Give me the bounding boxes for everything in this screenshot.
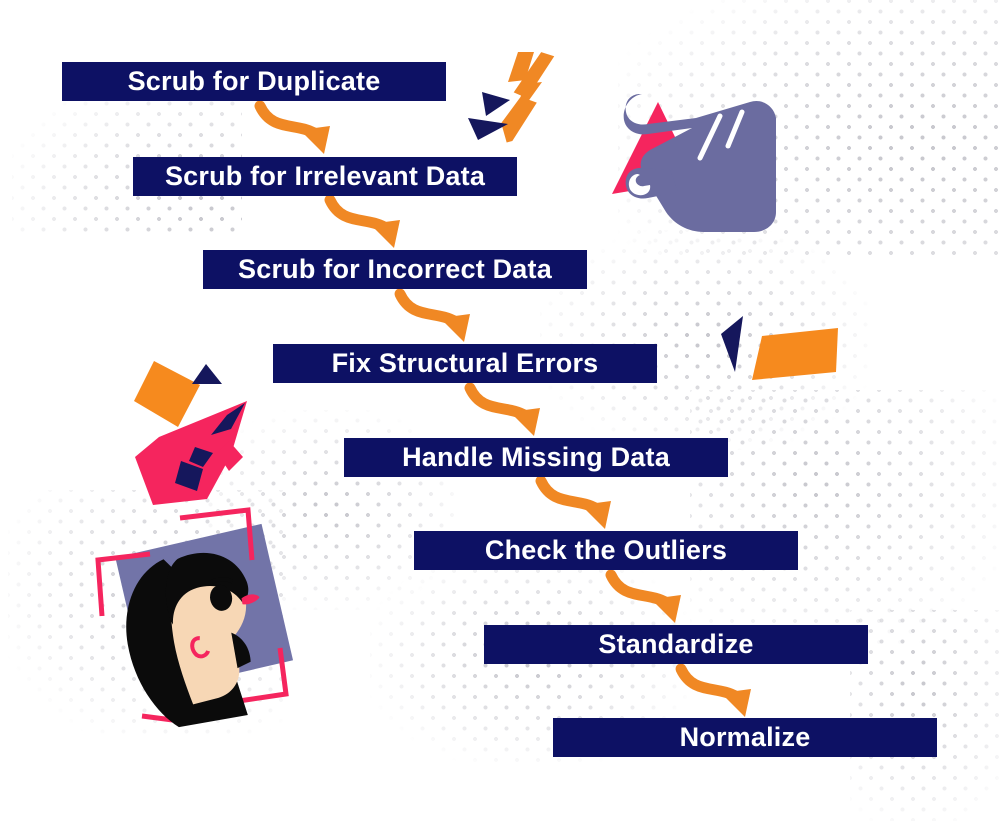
hand-shape [624, 94, 776, 232]
dot-field-center [540, 230, 870, 450]
thumb-notch [629, 174, 650, 195]
step-label-1: Scrub for Duplicate [128, 68, 381, 95]
arrow-irrelevant-to-incorrect [322, 192, 432, 254]
hand-holding-pen-illustration [600, 72, 820, 252]
step-box-fix-structural-errors[interactable]: Fix Structural Errors [273, 344, 657, 383]
arrow-structural-to-missing [462, 380, 572, 442]
dot-field-top-right [618, 0, 1000, 260]
face-shape [160, 550, 262, 705]
hand-outline-notch [629, 100, 650, 121]
step-box-handle-missing-data[interactable]: Handle Missing Data [344, 438, 728, 477]
step-box-scrub-for-incorrect-data[interactable]: Scrub for Incorrect Data [203, 250, 587, 289]
eye-shape [208, 583, 234, 612]
orange-lightning-shape [466, 36, 586, 156]
step-label-8: Normalize [680, 724, 811, 751]
finger-crease-2 [728, 112, 742, 146]
purple-backdrop-square [115, 524, 293, 694]
orange-parallelogram-shape [750, 318, 860, 398]
lips-shape [241, 593, 260, 605]
finger-crease-1 [700, 116, 720, 158]
arrow-duplicate-to-irrelevant [252, 98, 362, 160]
step-box-scrub-for-duplicate[interactable]: Scrub for Duplicate [62, 62, 446, 101]
navy-sliver-triangle [715, 310, 765, 390]
step-label-7: Standardize [598, 631, 753, 658]
pink-nib-shape [612, 102, 696, 194]
step-box-normalize[interactable]: Normalize [553, 718, 937, 757]
eyebrow-shape [208, 577, 232, 586]
dot-field-bottom-right [850, 610, 1000, 821]
ear-shape [191, 637, 209, 658]
thumb-shape [626, 168, 678, 199]
infographic-canvas: Scrub for Duplicate Scrub for Irrelevant… [0, 0, 1000, 821]
woman-profile-illustration [80, 498, 320, 728]
step-label-5: Handle Missing Data [402, 444, 670, 471]
step-label-3: Scrub for Incorrect Data [238, 256, 552, 283]
step-label-6: Check the Outliers [485, 537, 727, 564]
dot-field-mid-right [690, 390, 1000, 650]
step-box-scrub-for-irrelevant-data[interactable]: Scrub for Irrelevant Data [133, 157, 517, 196]
dot-field-bottom-left [8, 490, 288, 740]
step-label-4: Fix Structural Errors [332, 350, 599, 377]
navy-triangle-cluster-top [466, 78, 556, 148]
hair-side-strand [231, 630, 251, 668]
pink-corner-frame [98, 510, 286, 722]
navy-triangle-small-left [188, 360, 228, 394]
hair-front-shape [159, 545, 252, 625]
arrow-incorrect-to-structural [392, 286, 502, 348]
step-box-check-the-outliers[interactable]: Check the Outliers [414, 531, 798, 570]
arrow-missing-to-outliers [533, 473, 643, 535]
orange-diamond-shape [128, 355, 208, 435]
step-box-standardize[interactable]: Standardize [484, 625, 868, 664]
step-label-2: Scrub for Irrelevant Data [165, 163, 485, 190]
hair-back-shape [114, 550, 248, 728]
arrow-outliers-to-standardize [603, 567, 713, 629]
arrow-standardize-to-normalize [673, 661, 783, 723]
pink-arrow-shape [135, 395, 275, 515]
